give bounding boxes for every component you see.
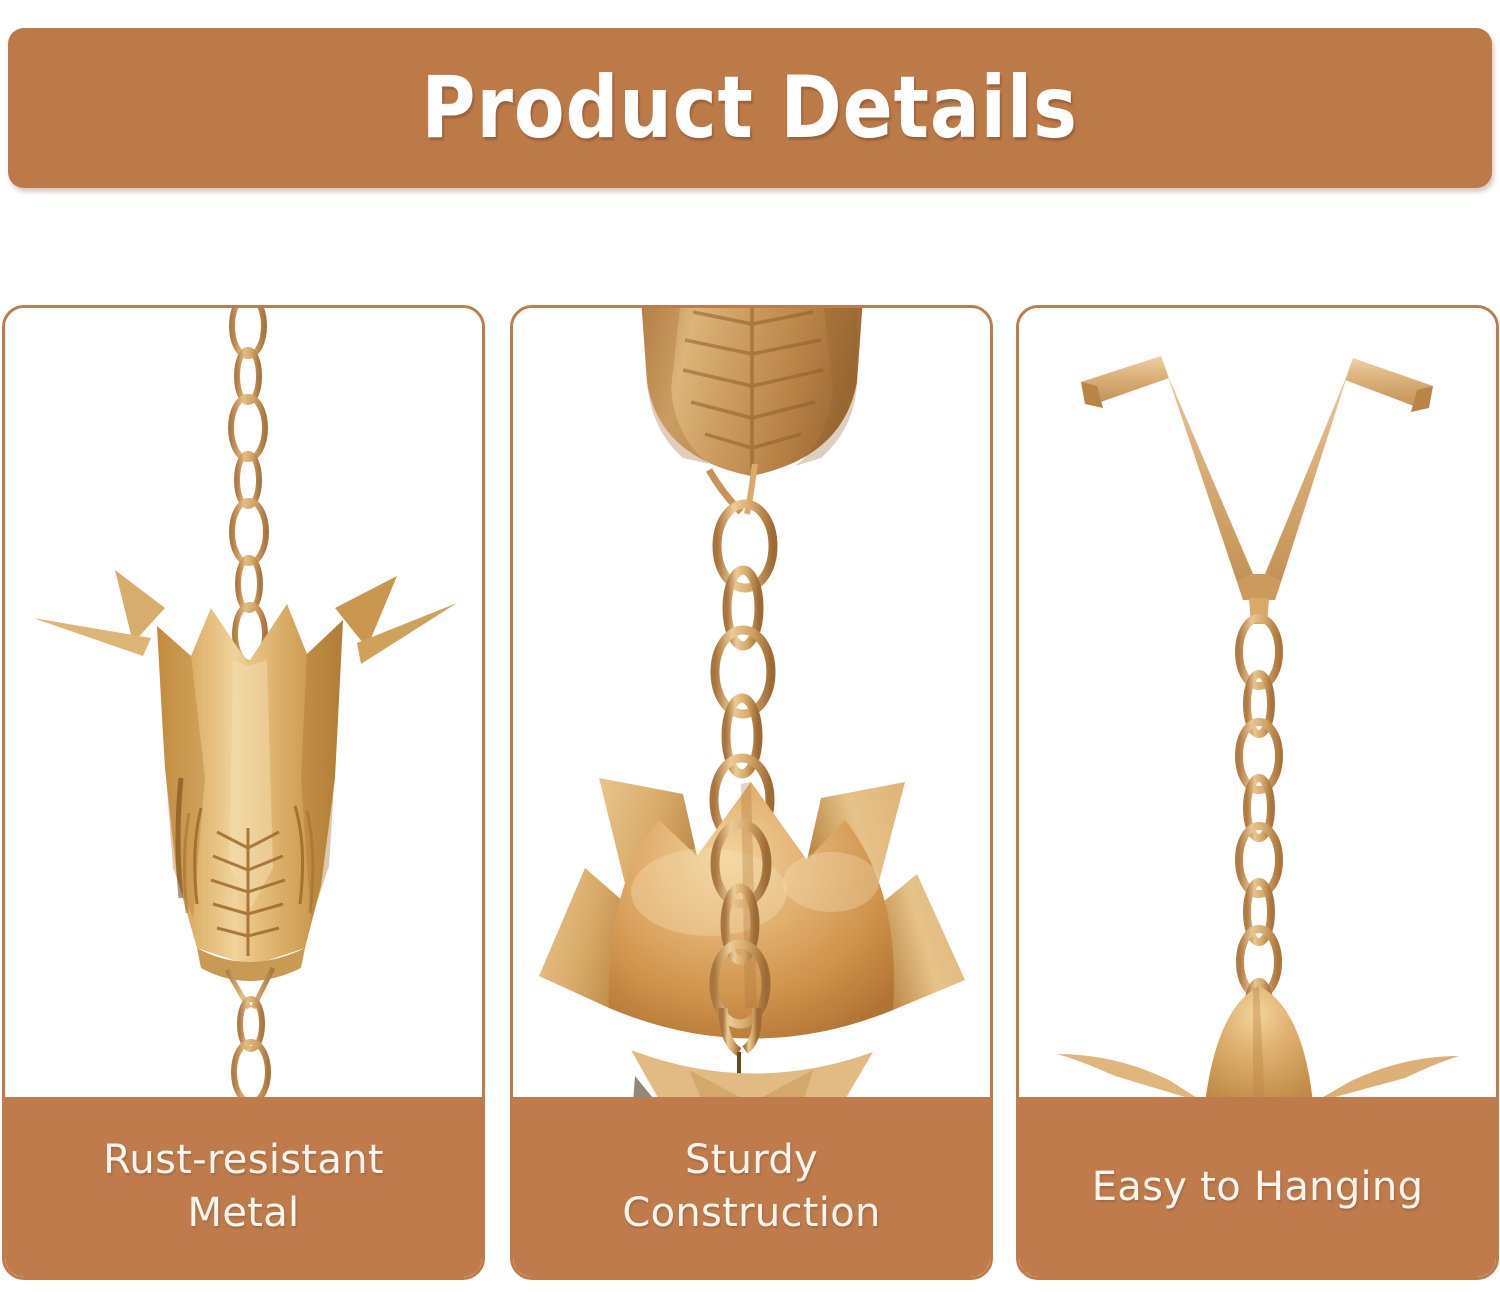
product-photo-chain-closeup — [513, 308, 990, 1103]
chain-into-flower-closeup-illustration — [513, 308, 990, 1103]
caption-text: Sturdy Construction — [604, 1134, 898, 1240]
caption-text: Rust-resistant Metal — [85, 1134, 402, 1240]
leaf-textured-cup — [641, 308, 863, 476]
page-title: Product Details — [422, 65, 1078, 151]
flower-cup-with-chain-illustration — [5, 308, 482, 1103]
feature-panel-rust-resistant[interactable]: Rust-resistant Metal — [2, 305, 485, 1280]
flower-cup-top — [1057, 986, 1459, 1103]
feature-panel-sturdy-construction[interactable]: Sturdy Construction — [510, 305, 993, 1280]
chain-lower — [227, 968, 273, 1102]
v-hanger-bracket-illustration — [1019, 308, 1496, 1103]
panel-caption-sturdy-construction: Sturdy Construction — [513, 1097, 990, 1277]
feature-panel-row: Rust-resistant Metal — [0, 305, 1500, 1285]
caption-text: Easy to Hanging — [1074, 1161, 1442, 1214]
feature-panel-easy-hanging[interactable]: Easy to Hanging — [1016, 305, 1499, 1280]
header-banner: Product Details — [8, 28, 1492, 188]
hanger-right-arm — [1265, 358, 1433, 582]
panel-caption-rust-resistant: Rust-resistant Metal — [5, 1097, 482, 1277]
chain-from-hanger — [1239, 618, 1279, 1038]
product-photo-v-hanger — [1019, 308, 1496, 1103]
product-details-page: Product Details — [0, 0, 1500, 1292]
product-photo-flower-cup — [5, 308, 482, 1103]
hanger-left-arm — [1081, 356, 1253, 582]
panel-caption-easy-hanging: Easy to Hanging — [1019, 1097, 1496, 1277]
chain-upper — [231, 308, 266, 663]
